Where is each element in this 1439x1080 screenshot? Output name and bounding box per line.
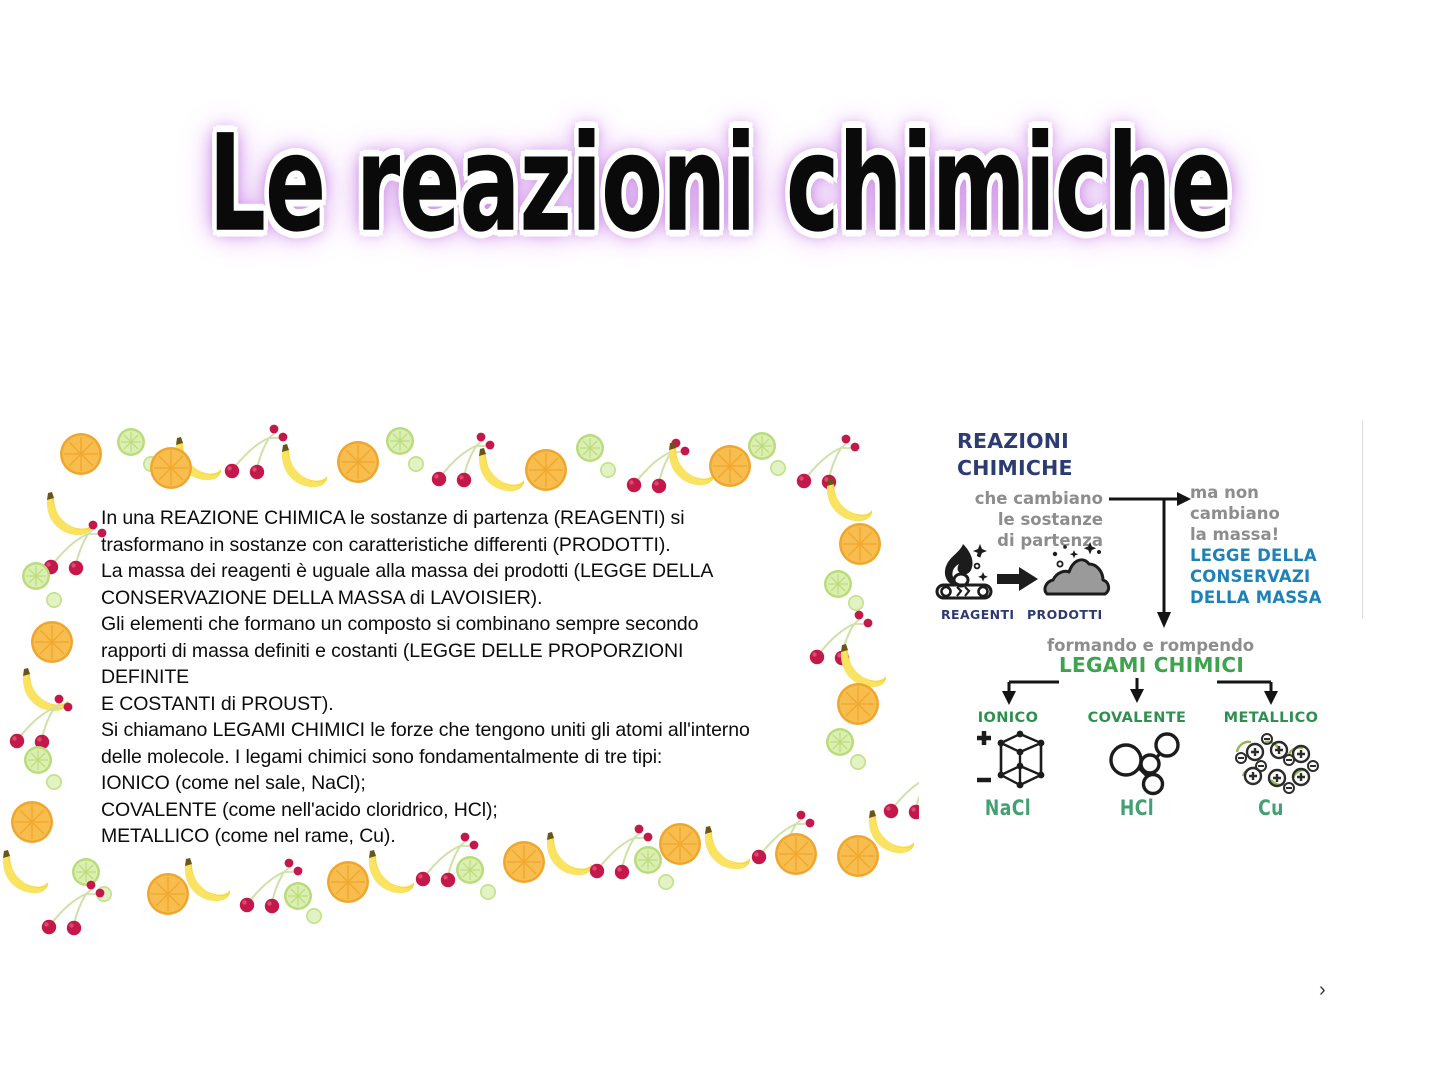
molecule-icon <box>1105 732 1181 794</box>
metal-sea-icon <box>1231 728 1317 794</box>
thick-right-arrow-icon <box>997 566 1039 592</box>
burning-log-icon <box>933 540 999 602</box>
prodotti-label: PRODOTTI <box>1027 607 1103 622</box>
crystal-lattice-icon <box>975 730 1049 792</box>
bonds-title: LEGAMI CHIMICI <box>1059 653 1244 677</box>
bond-type-ionico-label: IONICO <box>963 710 1053 726</box>
bond-formula-cu: Cu <box>1220 796 1322 820</box>
chemical-reactions-diagram[interactable]: REAZIONI CHIMICHE che cambiano le sostan… <box>919 420 1363 840</box>
ash-pile-icon <box>1041 538 1113 602</box>
slide-canvas: Le reazioni chimiche <box>0 0 1439 1080</box>
bond-type-metallico-label: METALLICO <box>1209 710 1333 726</box>
chevron-right-icon[interactable]: › <box>1319 980 1326 1000</box>
page-title: Le reazioni chimiche <box>208 116 1230 250</box>
slide-title-block: Le reazioni chimiche <box>0 108 1439 258</box>
body-paragraph: In una REAZIONE CHIMICA le sostanze di p… <box>101 505 901 850</box>
reagenti-label: REAGENTI <box>941 607 1014 622</box>
bond-formula-hcl: HCl <box>1088 796 1186 820</box>
bond-formula-nacl: NaCl <box>971 796 1045 820</box>
bond-type-covalente-label: COVALENTE <box>1077 710 1197 726</box>
